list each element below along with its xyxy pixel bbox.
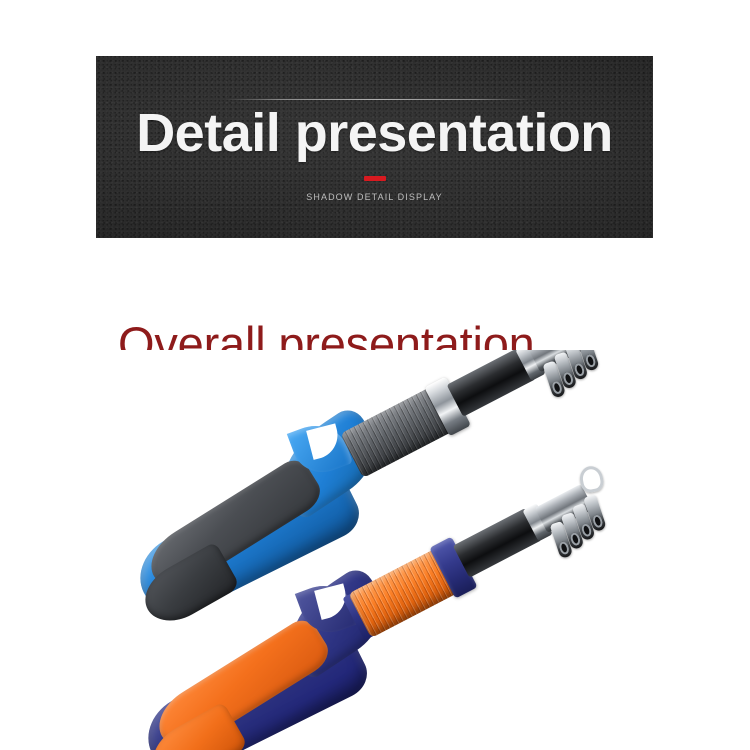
product-detail-page: Detail presentation SHADOW DETAIL DISPLA… xyxy=(0,0,750,750)
guide-ring-icon xyxy=(558,540,571,555)
banner-accent-dash xyxy=(364,176,386,181)
detail-presentation-banner: Detail presentation SHADOW DETAIL DISPLA… xyxy=(96,56,653,238)
guide-ring-icon xyxy=(562,371,575,386)
banner-divider-line xyxy=(225,99,530,100)
guide-ring-icon xyxy=(551,380,564,395)
guide-ring-icon xyxy=(584,353,597,368)
guide-ring-icon xyxy=(580,523,593,538)
guide-ring-icon xyxy=(573,362,586,377)
banner-title: Detail presentation xyxy=(96,102,653,164)
guide-ring-icon xyxy=(569,532,582,547)
guide-ring-icon xyxy=(591,514,604,529)
banner-subtitle: SHADOW DETAIL DISPLAY xyxy=(96,192,653,202)
product-photo xyxy=(0,350,750,750)
